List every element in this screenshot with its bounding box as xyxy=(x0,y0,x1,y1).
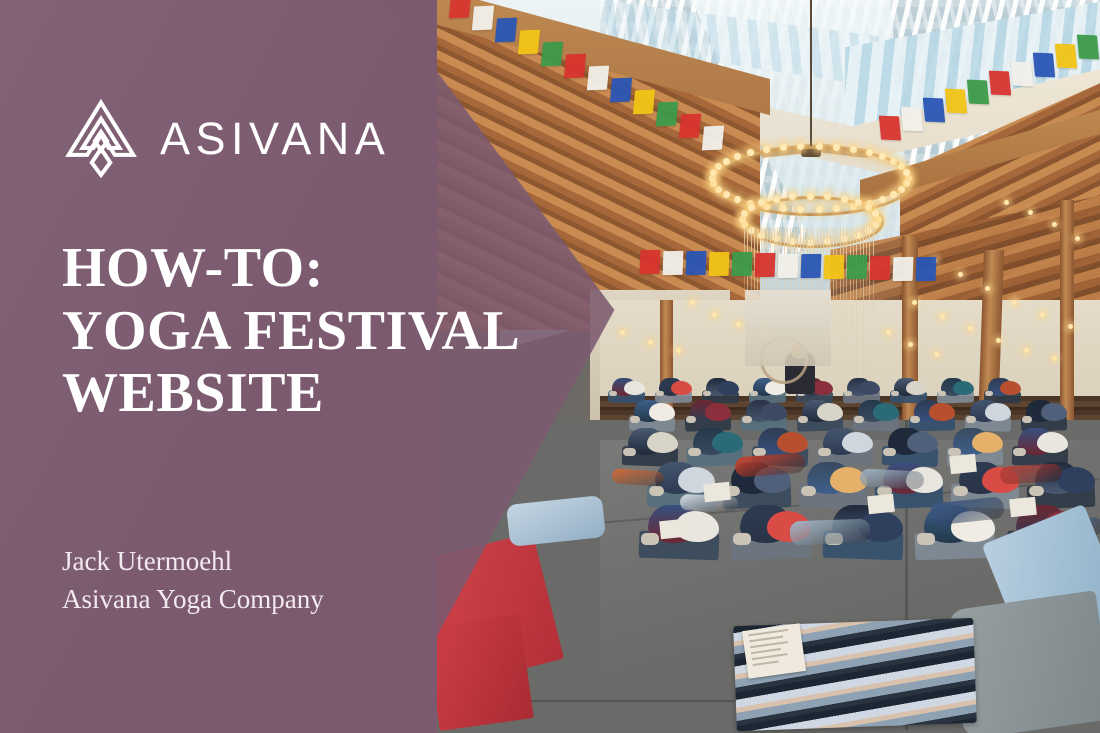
practitioner-feet xyxy=(733,533,751,544)
chandelier-strand xyxy=(846,228,847,353)
practitioner-feet xyxy=(854,416,864,423)
chandelier-bulb xyxy=(816,143,823,150)
chandelier-bulb xyxy=(890,158,897,165)
chandelier-bulb xyxy=(773,196,780,203)
page-title: HOW-TO: YOGA FESTIVAL WEBSITE xyxy=(62,237,602,425)
practitioner-upper-body xyxy=(712,432,743,453)
prayer-flag xyxy=(732,252,753,276)
practitioner-feet xyxy=(703,391,711,396)
practitioner-upper-body xyxy=(972,432,1003,453)
chandelier-strand xyxy=(843,228,844,355)
prayer-flag xyxy=(801,254,822,278)
chandelier-strand xyxy=(840,228,841,368)
practitioner-upper-body xyxy=(859,381,880,395)
prayer-flag xyxy=(679,114,701,139)
practitioner-feet xyxy=(798,416,808,423)
downlight xyxy=(912,300,917,305)
chandelier-bulb xyxy=(741,210,748,217)
chandelier-bulb xyxy=(903,169,910,176)
floor-paper xyxy=(1009,497,1037,518)
bolster xyxy=(790,519,871,546)
practitioner-upper-body xyxy=(671,381,692,395)
practitioner-upper-body xyxy=(812,381,833,395)
prayer-flag xyxy=(610,78,632,103)
practitioner-upper-body xyxy=(649,403,674,420)
downlight xyxy=(1024,348,1029,353)
prayer-flag xyxy=(778,253,799,277)
practitioner-feet xyxy=(985,391,993,396)
downlight xyxy=(985,286,990,291)
downlight xyxy=(620,330,625,335)
practitioner-feet xyxy=(688,448,700,456)
practitioner-upper-body xyxy=(1000,381,1021,395)
practitioner-feet xyxy=(686,416,696,423)
prayer-flag xyxy=(702,126,724,151)
downlight xyxy=(690,300,695,305)
title-line-3: WEBSITE xyxy=(62,362,324,424)
prayer-flag xyxy=(923,98,945,123)
practitioner-feet xyxy=(818,448,830,456)
practitioner-feet xyxy=(910,416,920,423)
downlight xyxy=(1012,300,1017,305)
asivana-arrow-mark-icon xyxy=(62,98,140,178)
chandelier-bulb xyxy=(855,199,862,206)
practitioner-feet xyxy=(917,533,935,544)
prayer-flag xyxy=(893,256,914,280)
prayer-flag xyxy=(686,251,707,275)
practitioner-feet xyxy=(938,391,946,396)
chandelier-bulb xyxy=(723,158,730,165)
chandelier-bulb xyxy=(833,144,840,151)
practitioner-feet xyxy=(883,448,895,456)
downlight xyxy=(1068,324,1073,329)
practitioner-feet xyxy=(641,533,659,544)
practitioner-upper-body xyxy=(705,403,730,420)
practitioner-feet xyxy=(801,486,816,496)
chandelier-bulb xyxy=(879,196,886,203)
prayer-flag xyxy=(989,71,1011,96)
prayer-flag xyxy=(587,66,609,91)
prayer-flag xyxy=(967,80,989,105)
practitioner-upper-body xyxy=(906,381,927,395)
practitioner-feet xyxy=(953,486,968,496)
prayer-flag xyxy=(1055,44,1077,69)
prayer-flag xyxy=(633,90,655,115)
prayer-flag xyxy=(824,255,845,279)
downlight xyxy=(1075,236,1080,241)
practitioner-feet xyxy=(609,391,617,396)
practitioner-upper-body xyxy=(907,432,938,453)
printed-handout xyxy=(742,623,806,679)
floor-paper xyxy=(659,519,687,540)
practitioner-feet xyxy=(750,391,758,396)
practitioner-upper-body xyxy=(929,403,954,420)
downlight xyxy=(712,312,717,317)
practitioner-upper-body xyxy=(1058,467,1096,493)
downlight xyxy=(648,340,653,345)
practitioner-feet xyxy=(649,486,664,496)
practitioner-feet xyxy=(656,391,664,396)
bolster xyxy=(1000,463,1063,484)
chandelier-bulb xyxy=(879,153,886,160)
downlight xyxy=(958,272,963,277)
downlight xyxy=(968,326,973,331)
practitioner-feet xyxy=(623,448,635,456)
chandelier-bulb xyxy=(734,153,741,160)
practitioner-feet xyxy=(966,416,976,423)
practitioner-upper-body xyxy=(842,432,873,453)
chandelier-bulb xyxy=(739,216,746,223)
chandelier-bulb xyxy=(780,205,787,212)
chandelier-bulb xyxy=(763,146,770,153)
downlight xyxy=(1028,210,1033,215)
prayer-flag xyxy=(901,107,923,132)
prayer-flag xyxy=(495,18,517,43)
prayer-flag xyxy=(663,250,684,274)
chandelier-strand xyxy=(853,228,854,335)
practitioner-upper-body xyxy=(718,381,739,395)
bolster xyxy=(860,468,925,489)
prayer-flag xyxy=(870,256,891,280)
chandelier-bulb xyxy=(898,186,905,193)
brand-wordmark: ASIVANA xyxy=(160,116,390,161)
title-slide: ASIVANA HOW-TO: YOGA FESTIVAL WEBSITE Ja… xyxy=(0,0,1100,733)
downlight xyxy=(1052,222,1057,227)
byline: Jack Utermoehl Asivana Yoga Company xyxy=(62,542,324,619)
stage-curtain xyxy=(745,290,831,366)
prayer-flag xyxy=(472,6,494,31)
prayer-flag xyxy=(640,250,661,274)
practitioner-upper-body xyxy=(1041,403,1066,420)
practitioner-feet xyxy=(844,391,852,396)
practitioner-upper-body xyxy=(761,403,786,420)
downlight xyxy=(934,352,939,357)
downlight xyxy=(940,314,945,319)
practitioner-upper-body xyxy=(985,403,1010,420)
downlight xyxy=(1040,312,1045,317)
chandelier-cord xyxy=(810,0,812,150)
title-line-2: YOGA FESTIVAL xyxy=(62,300,520,362)
practitioner-feet xyxy=(1013,448,1025,456)
prayer-flag xyxy=(1011,62,1033,87)
chandelier-bulb xyxy=(807,193,814,200)
floor-paper xyxy=(867,494,895,515)
prayer-flag xyxy=(1077,35,1099,60)
prayer-flag xyxy=(945,89,967,114)
prayer-flag xyxy=(518,30,540,55)
downlight xyxy=(996,338,1001,343)
chandelier-strand xyxy=(836,228,837,337)
chandelier-bulb xyxy=(816,206,823,213)
prayer-flag xyxy=(1033,53,1055,78)
title-line-1: HOW-TO: xyxy=(62,237,324,299)
chandelier-bulb xyxy=(850,146,857,153)
practitioner-feet xyxy=(891,391,899,396)
downlight xyxy=(736,322,741,327)
practitioner-feet xyxy=(1029,486,1044,496)
prayer-flag-garland-left xyxy=(430,0,770,30)
prayer-flag xyxy=(656,102,678,127)
prayer-flag xyxy=(847,255,868,279)
practitioner-upper-body xyxy=(953,381,974,395)
downlight xyxy=(1004,200,1009,205)
downlight xyxy=(676,348,681,353)
prayer-flag xyxy=(755,253,776,277)
prayer-flag xyxy=(916,257,937,281)
practitioner-upper-body xyxy=(1037,432,1068,453)
prayer-flag-garland-center xyxy=(640,250,940,280)
byline-organization: Asivana Yoga Company xyxy=(62,580,324,618)
practitioner-feet xyxy=(1022,416,1032,423)
floor-paper xyxy=(949,454,977,475)
red-yoga-mat xyxy=(425,614,534,731)
byline-author: Jack Utermoehl xyxy=(62,542,324,580)
chandelier-bulb xyxy=(872,210,879,217)
practitioner-feet xyxy=(742,416,752,423)
prayer-flag xyxy=(709,252,730,276)
practitioner-upper-body xyxy=(777,432,808,453)
practitioner-upper-body xyxy=(817,403,842,420)
downlight xyxy=(886,330,891,335)
prayer-flag xyxy=(879,116,901,141)
prayer-flag xyxy=(449,0,471,18)
prayer-flag xyxy=(541,42,563,67)
prayer-flag-garland-right xyxy=(880,120,1100,150)
brand-lockup: ASIVANA xyxy=(62,98,390,178)
downlight xyxy=(1052,356,1057,361)
chandelier-bulb xyxy=(841,196,848,203)
practitioner-feet xyxy=(630,416,640,423)
prayer-flag xyxy=(564,54,586,79)
practitioner-upper-body xyxy=(647,432,678,453)
floor-paper xyxy=(703,482,731,503)
downlight xyxy=(908,342,913,347)
chandelier-bulb xyxy=(748,204,755,211)
practitioner-upper-body xyxy=(624,381,645,395)
chandelier-bulb xyxy=(866,149,873,156)
practitioner-upper-body xyxy=(873,403,898,420)
chandelier-bulb xyxy=(715,163,722,170)
chandelier-bulb xyxy=(780,144,787,151)
